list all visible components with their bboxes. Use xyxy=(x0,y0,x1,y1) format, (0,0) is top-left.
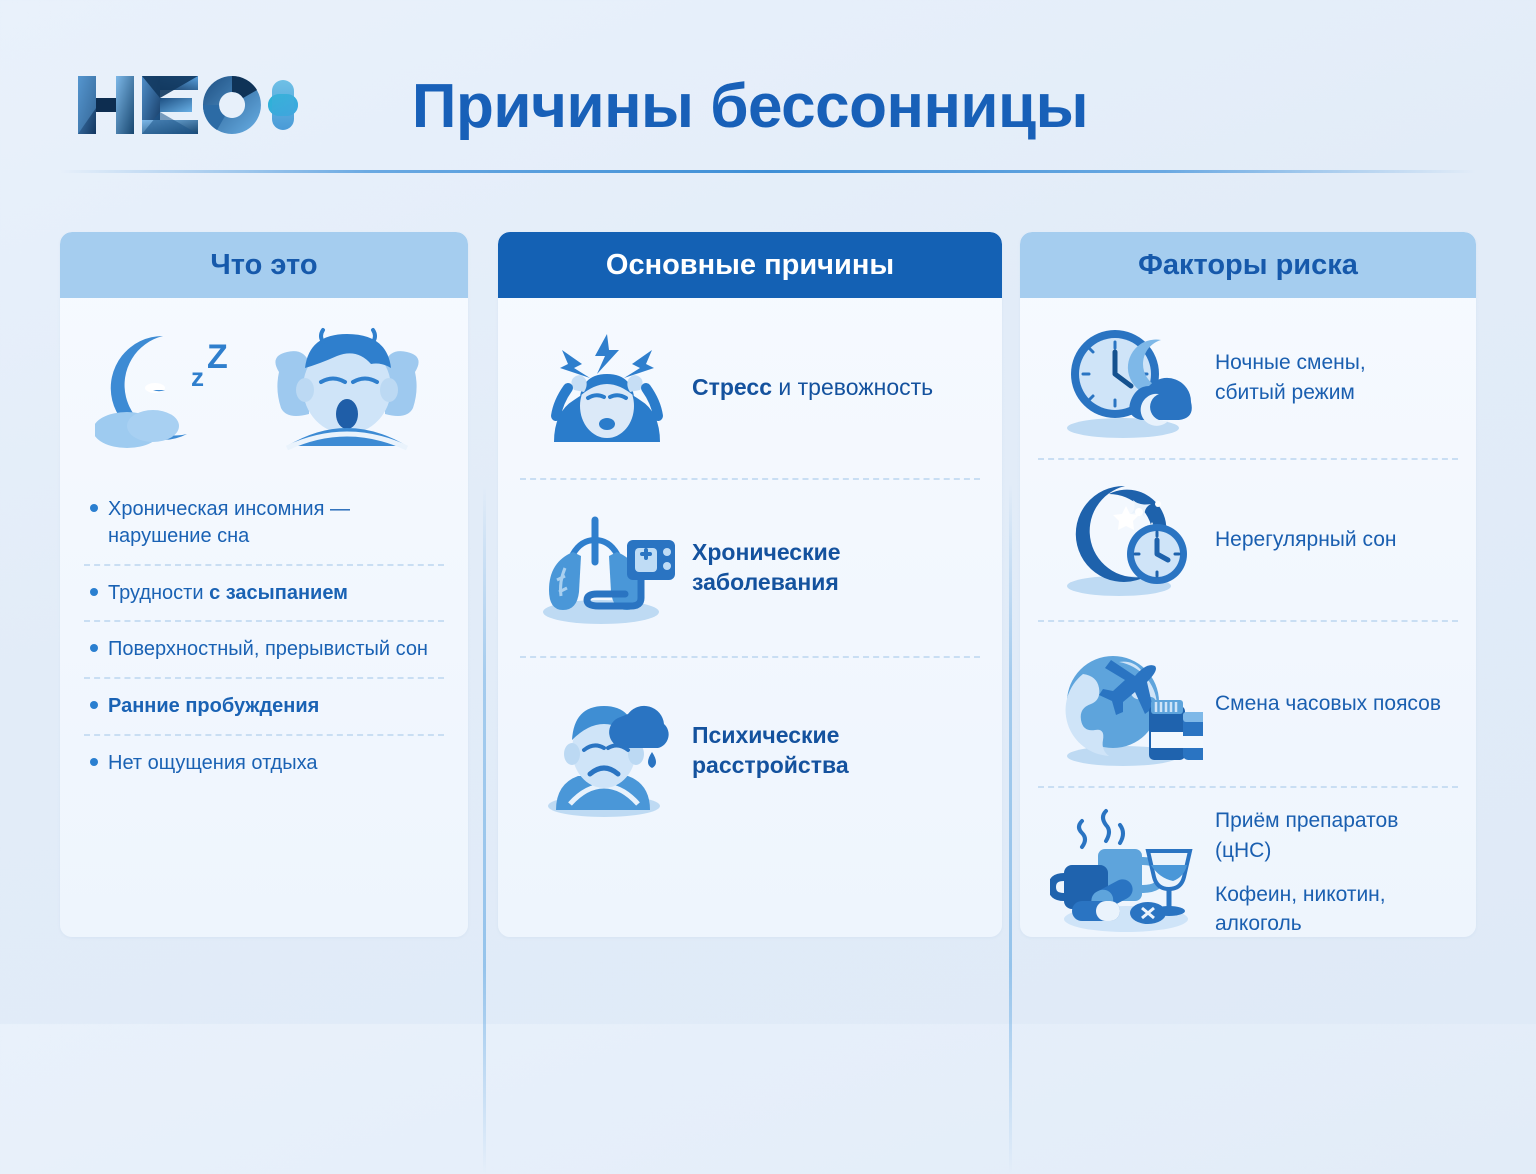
list-item-label: Стресс и тревожность xyxy=(692,373,933,403)
card-risk-factors: Факторы риска xyxy=(1020,232,1476,937)
list-item: Стресс и тревожность xyxy=(498,298,1002,478)
list-item-label: Смена часовых поясов xyxy=(1215,689,1441,719)
column-separator-1 xyxy=(483,484,486,1174)
columns-container: Что это z Z xyxy=(0,232,1536,937)
card-header-what-is-it: Что это xyxy=(60,232,468,298)
card-header-main-causes: Основные причины xyxy=(498,232,1002,298)
list-item: Психические расстройства xyxy=(498,658,1002,844)
yawning-person-in-bed-icon xyxy=(261,318,433,458)
page-header: Причины бессонницы xyxy=(0,0,1536,170)
card-body-main-causes: Стресс и тревожность xyxy=(498,298,1002,844)
card-what-is-it: Что это z Z xyxy=(60,232,468,937)
list-item: Смена часовых поясов xyxy=(1020,622,1476,786)
list-item-label: Нерегулярный сон xyxy=(1215,525,1396,555)
sleeping-moon-icon: z Z xyxy=(95,318,247,458)
list-item-label: Хронические заболевания xyxy=(692,538,982,598)
list-item: Нерегулярный сон xyxy=(1020,460,1476,620)
card-header-risk-factors: Факторы риска xyxy=(1020,232,1476,298)
bullet-dot xyxy=(90,644,98,652)
list-item-label: Психические расстройства xyxy=(692,721,982,781)
bullet-dot xyxy=(90,701,98,709)
clock-moon-night-shift-icon xyxy=(1040,316,1215,440)
page-title: Причины бессонницы xyxy=(360,58,1140,154)
hero-illustration: z Z xyxy=(60,298,468,478)
list-item-label: Трудности с засыпанием xyxy=(108,580,446,607)
svg-text:z: z xyxy=(191,362,204,392)
list-item: Ночные смены, сбитый режим xyxy=(1020,298,1476,458)
card-body-what-is-it: z Z xyxy=(60,298,468,791)
header-divider xyxy=(60,170,1476,173)
list-item: Нет ощущения отдыха xyxy=(82,736,446,791)
bullet-dot xyxy=(90,504,98,512)
list-item-label: Нет ощущения отдыха xyxy=(108,750,446,777)
list-item: Ранние пробуждения xyxy=(82,679,446,734)
stressed-head-lightning-icon xyxy=(522,324,692,452)
card-main-causes: Основные причины xyxy=(498,232,1002,937)
list-item-label: Приём препаратов (цНС) Кофеин, никотин, … xyxy=(1215,806,1460,937)
list-item-label: Поверхностный, прерывистый сон xyxy=(108,636,446,663)
card-body-risk-factors: Ночные смены, сбитый режим xyxy=(1020,298,1476,937)
globe-airplane-pills-icon xyxy=(1040,640,1215,768)
list-item: Приём препаратов (цНС) Кофеин, никотин, … xyxy=(1020,788,1476,937)
column-separator-2 xyxy=(1009,484,1012,1174)
list-item-label: Ранние пробуждения xyxy=(108,693,446,720)
list-item: Поверхностный, прерывистый сон xyxy=(82,622,446,677)
lungs-blood-pressure-monitor-icon xyxy=(522,506,692,630)
svg-text:Z: Z xyxy=(207,338,228,376)
neo-plus-logo xyxy=(72,68,300,142)
coffee-wine-pills-icon xyxy=(1040,807,1215,937)
list-item: Трудности с засыпанием xyxy=(82,566,446,621)
bullet-dot xyxy=(90,758,98,766)
what-is-it-list: Хроническая инсомния — нарушение сна Тру… xyxy=(60,478,468,791)
crescent-stars-clock-icon xyxy=(1040,478,1215,602)
list-item-label: Хроническая инсомния — нарушение сна xyxy=(108,496,446,550)
bullet-dot xyxy=(90,588,98,596)
sad-person-rain-cloud-icon xyxy=(522,684,692,818)
list-item: Хроническая инсомния — нарушение сна xyxy=(82,482,446,564)
infographic-page: Причины бессонницы Что это z xyxy=(0,0,1536,1024)
list-item: Хронические заболевания xyxy=(498,480,1002,656)
list-item-label: Ночные смены, сбитый режим xyxy=(1215,348,1366,408)
